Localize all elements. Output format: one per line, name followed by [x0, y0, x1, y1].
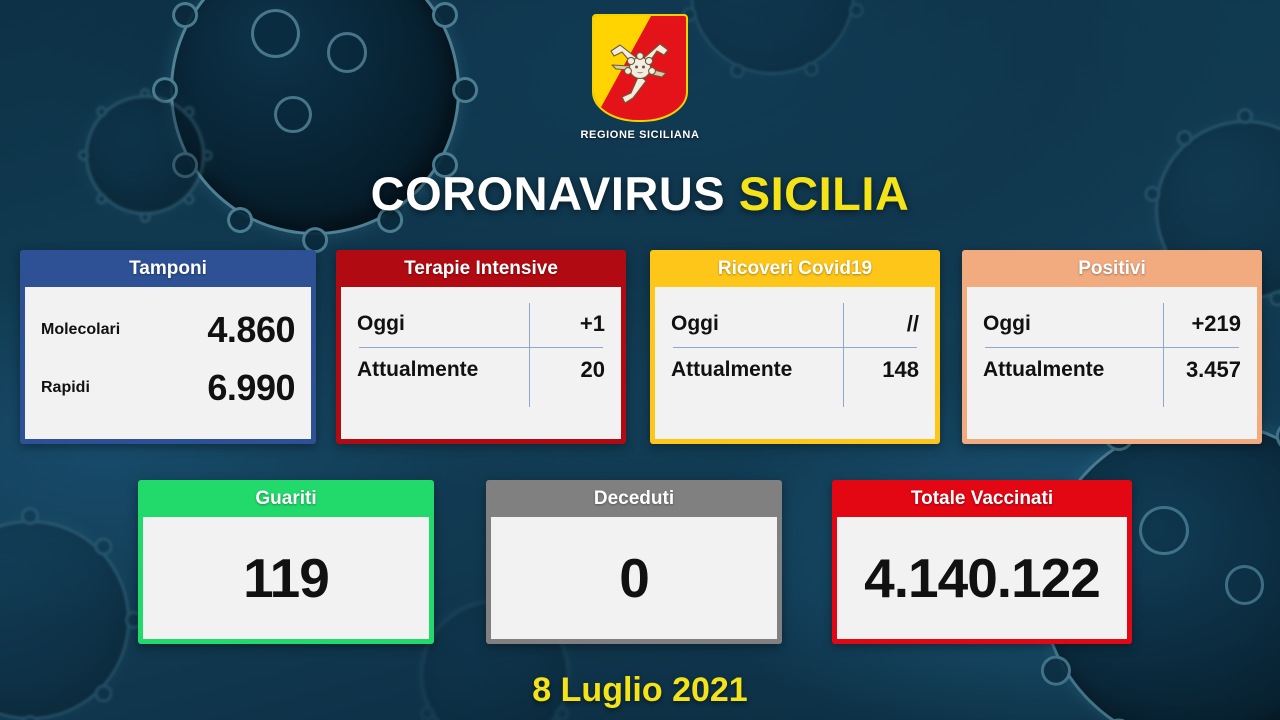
- stat-row: Oggi +1: [357, 301, 605, 347]
- stat-value: +1: [531, 311, 605, 337]
- stat-label: Oggi: [357, 312, 531, 336]
- stat-label: Molecolari: [41, 321, 207, 339]
- stat-row: Attualmente 20: [357, 347, 605, 393]
- stat-value: 3.457: [1167, 357, 1241, 383]
- stat-card-deceduti[interactable]: Deceduti 0: [486, 480, 782, 644]
- stat-value: +219: [1167, 311, 1241, 337]
- stat-value: 4.140.122: [837, 517, 1127, 639]
- card-title: Totale Vaccinati: [832, 480, 1132, 517]
- stat-row: Oggi //: [671, 301, 919, 347]
- stat-value: //: [845, 311, 919, 337]
- page-title: CORONAVIRUS SICILIA: [0, 166, 1280, 221]
- stat-value: 20: [531, 357, 605, 383]
- stat-value: 0: [491, 517, 777, 639]
- card-body: Oggi +219 Attualmente 3.457: [967, 287, 1257, 439]
- title-main: CORONAVIRUS: [371, 167, 726, 220]
- card-body: Oggi // Attualmente 148: [655, 287, 935, 439]
- title-accent: SICILIA: [739, 167, 910, 220]
- header-emblem-block: REGIONE SICILIANA: [0, 14, 1280, 141]
- emblem-caption: REGIONE SICILIANA: [581, 129, 700, 141]
- stat-value: 6.990: [207, 367, 295, 409]
- stat-row: Attualmente 3.457: [983, 347, 1241, 393]
- card-title: Deceduti: [486, 480, 782, 517]
- card-title: Terapie Intensive: [336, 250, 626, 287]
- trinacria-icon: [600, 25, 680, 111]
- stat-row: Molecolari 4.860: [41, 301, 295, 359]
- stat-label: Attualmente: [671, 358, 845, 382]
- stat-value: 148: [845, 357, 919, 383]
- stat-card-ricoveri-covid19[interactable]: Ricoveri Covid19 Oggi // Attualmente 148: [650, 250, 940, 444]
- stat-row: Rapidi 6.990: [41, 359, 295, 417]
- stat-card-positivi[interactable]: Positivi Oggi +219 Attualmente 3.457: [962, 250, 1262, 444]
- stat-label: Rapidi: [41, 379, 207, 397]
- stat-card-tamponi[interactable]: Tamponi Molecolari 4.860 Rapidi 6.990: [20, 250, 316, 444]
- card-body: Molecolari 4.860 Rapidi 6.990: [25, 287, 311, 439]
- card-body: Oggi +1 Attualmente 20: [341, 287, 621, 439]
- card-title: Positivi: [962, 250, 1262, 287]
- stat-label: Oggi: [671, 312, 845, 336]
- card-title: Guariti: [138, 480, 434, 517]
- stat-label: Attualmente: [983, 358, 1167, 382]
- stat-value: 119: [143, 517, 429, 639]
- stat-label: Attualmente: [357, 358, 531, 382]
- stat-card-guariti[interactable]: Guariti 119: [138, 480, 434, 644]
- stat-value: 4.860: [207, 309, 295, 351]
- infographic-canvas: REGIONE SICILIANA CORONAVIRUS SICILIA Ta…: [0, 0, 1280, 720]
- stat-card-terapie-intensive[interactable]: Terapie Intensive Oggi +1 Attualmente 20: [336, 250, 626, 444]
- card-title: Ricoveri Covid19: [650, 250, 940, 287]
- stat-label: Oggi: [983, 312, 1167, 336]
- stat-row: Attualmente 148: [671, 347, 919, 393]
- sicily-coat-of-arms-icon: [592, 14, 688, 122]
- card-body: 119: [143, 517, 429, 639]
- report-date: 8 Luglio 2021: [0, 671, 1280, 710]
- card-body: 0: [491, 517, 777, 639]
- card-title: Tamponi: [20, 250, 316, 287]
- stat-row: Oggi +219: [983, 301, 1241, 347]
- card-body: 4.140.122: [837, 517, 1127, 639]
- stat-card-totale-vaccinati[interactable]: Totale Vaccinati 4.140.122: [832, 480, 1132, 644]
